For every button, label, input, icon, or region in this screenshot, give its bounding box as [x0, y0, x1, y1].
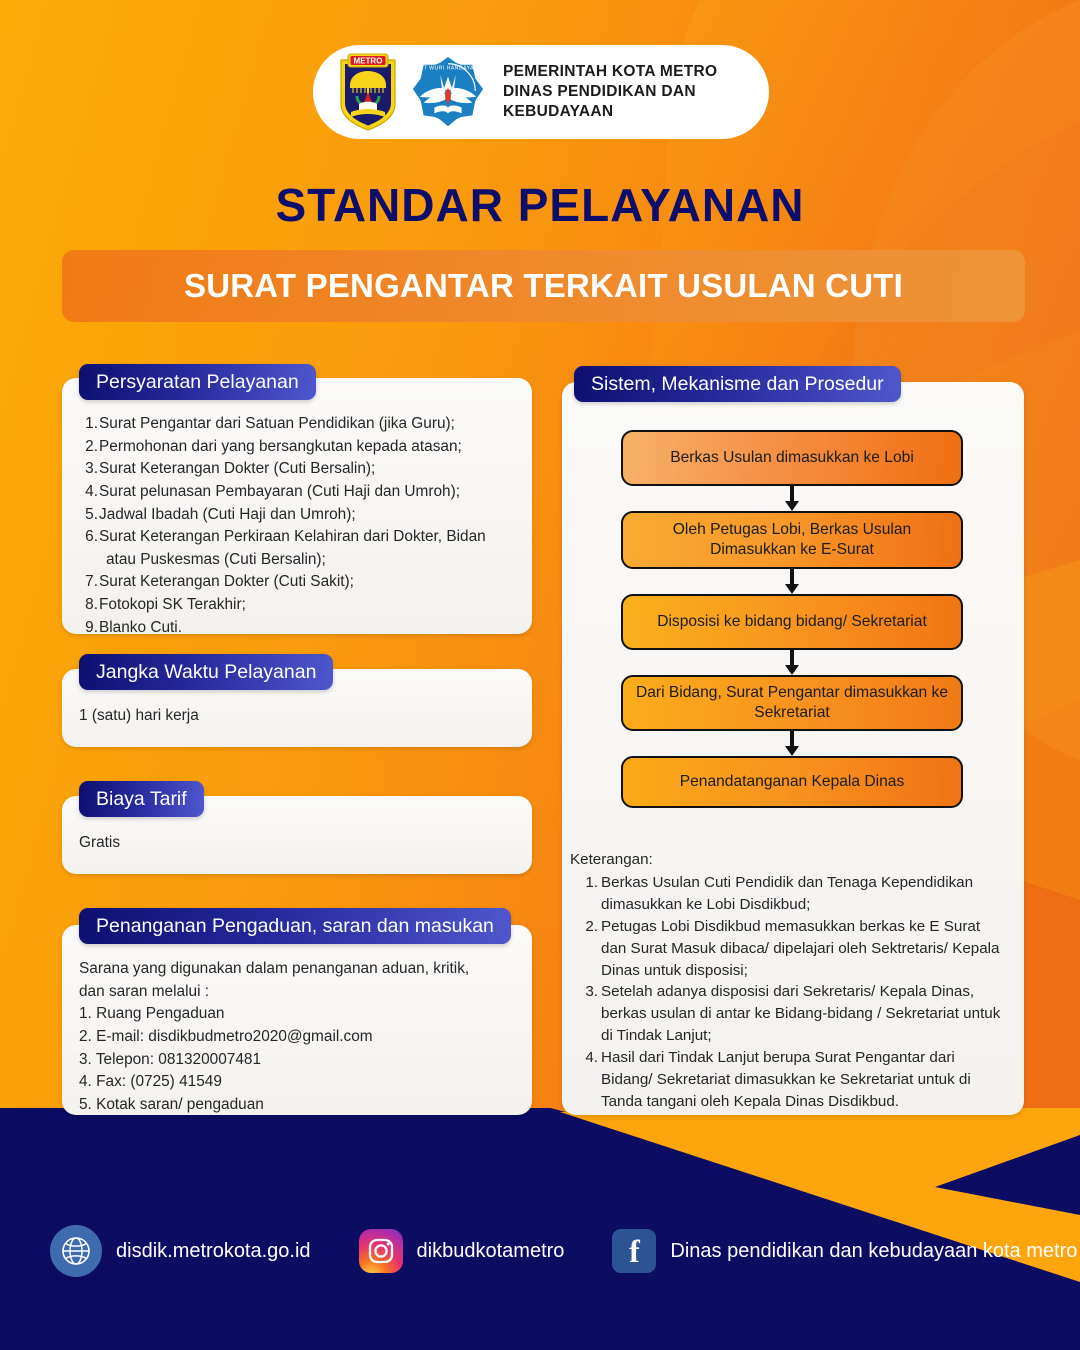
list-item: 1.Surat Pengantar dari Satuan Pendidikan… [80, 413, 532, 436]
website-label: disdik.metrokota.go.id [116, 1240, 311, 1263]
list-text: Jadwal Ibadah (Cuti Haji dan Umroh); [98, 504, 356, 527]
facebook-label: Dinas pendidikan dan kebudayaan kota met… [670, 1240, 1077, 1263]
list-item: 4.Surat pelunasan Pembayaran (Cuti Haji … [80, 481, 532, 504]
list-number: 4. [576, 1047, 598, 1113]
list-number: 7. [80, 571, 98, 594]
keterangan-list: 1.Berkas Usulan Cuti Pendidik dan Tenaga… [576, 872, 1004, 1113]
list-item: 8.Fotokopi SK Terakhir; [80, 594, 532, 617]
list-text: Hasil dari Tindak Lanjut berupa Surat Pe… [598, 1047, 1004, 1113]
pengaduan-body: Sarana yang digunakan dalam penanganan a… [79, 958, 529, 1116]
list-number: 5. [80, 504, 98, 527]
org-line-3: KEBUDAYAAN [503, 102, 717, 122]
list-text: Surat Pengantar dari Satuan Pendidikan (… [98, 413, 455, 436]
list-item: 4.Hasil dari Tindak Lanjut berupa Surat … [576, 1047, 1004, 1113]
list-item: 9.Blanko Cuti. [80, 617, 532, 640]
list-text: Berkas Usulan Cuti Pendidik dan Tenaga K… [598, 872, 1004, 916]
pengaduan-badge: Penanganan Pengaduan, saran dan masukan [79, 908, 511, 944]
subtitle-text: SURAT PENGANTAR TERKAIT USULAN CUTI [184, 267, 903, 305]
list-item: 3.Setelah adanya disposisi dari Sekretar… [576, 981, 1004, 1047]
jangka-waktu-badge: Jangka Waktu Pelayanan [79, 654, 333, 690]
list-text: Petugas Lobi Disdikbud memasukkan berkas… [598, 916, 1004, 982]
biaya-badge: Biaya Tarif [79, 781, 204, 817]
keterangan-title: Keterangan: [570, 851, 653, 868]
list-number: 9. [80, 617, 98, 640]
svg-text:METRO: METRO [354, 56, 383, 65]
persyaratan-list: 1.Surat Pengantar dari Satuan Pendidikan… [80, 413, 532, 639]
flow-step-2: Oleh Petugas Lobi, Berkas Usulan Dimasuk… [621, 511, 963, 569]
subtitle-banner: SURAT PENGANTAR TERKAIT USULAN CUTI [62, 250, 1025, 322]
list-item: 2.Petugas Lobi Disdikbud memasukkan berk… [576, 916, 1004, 982]
pengaduan-intro-1: Sarana yang digunakan dalam penanganan a… [79, 958, 529, 981]
pengaduan-item: 5. Kotak saran/ pengaduan [79, 1094, 529, 1117]
flow-step-3: Disposisi ke bidang bidang/ Sekretariat [621, 594, 963, 650]
flow-arrow-down-icon [621, 569, 963, 594]
org-line-2: DINAS PENDIDIKAN DAN [503, 82, 717, 102]
globe-icon [50, 1225, 102, 1277]
list-number: 8. [80, 594, 98, 617]
list-item-continuation: atau Puskesmas (Cuti Bersalin); [80, 549, 532, 572]
list-text: Blanko Cuti. [98, 617, 182, 640]
list-text: Setelah adanya disposisi dari Sekretaris… [598, 981, 1004, 1047]
jangka-waktu-value: 1 (satu) hari kerja [79, 705, 199, 728]
persyaratan-badge: Persyaratan Pelayanan [79, 364, 316, 400]
pengaduan-item: 1. Ruang Pengaduan [79, 1003, 529, 1026]
list-number: 2. [80, 436, 98, 459]
list-item: 1.Berkas Usulan Cuti Pendidik dan Tenaga… [576, 872, 1004, 916]
pengaduan-item: 4. Fax: (0725) 41549 [79, 1071, 529, 1094]
pengaduan-item: 3. Telepon: 081320007481 [79, 1049, 529, 1072]
pengaduan-intro-2: dan saran melalui : [79, 981, 529, 1004]
org-line-1: PEMERINTAH KOTA METRO [503, 62, 717, 82]
prosedur-badge: Sistem, Mekanisme dan Prosedur [574, 366, 901, 402]
footer-facebook[interactable]: f Dinas pendidikan dan kebudayaan kota m… [612, 1229, 1077, 1273]
flow-step-1: Berkas Usulan dimasukkan ke Lobi [621, 430, 963, 486]
list-text: Surat Keterangan Dokter (Cuti Sakit); [98, 571, 354, 594]
list-text: Surat Keterangan Perkiraan Kelahiran dar… [98, 526, 486, 549]
list-text: Permohonan dari yang bersangkutan kepada… [98, 436, 462, 459]
flow-arrow-down-icon [621, 486, 963, 511]
instagram-icon [359, 1229, 403, 1273]
list-item: 6.Surat Keterangan Perkiraan Kelahiran d… [80, 526, 532, 549]
list-number: 3. [80, 458, 98, 481]
footer-instagram[interactable]: dikbudkotametro [359, 1229, 565, 1273]
tut-wuri-handayani-icon: TUT WURI HANDAYANI [411, 54, 485, 130]
svg-text:TUT WURI HANDAYANI: TUT WURI HANDAYANI [416, 66, 480, 72]
flow-arrow-down-icon [621, 650, 963, 675]
list-item: 7.Surat Keterangan Dokter (Cuti Sakit); [80, 571, 532, 594]
flow-step-5: Penandatanganan Kepala Dinas [621, 756, 963, 808]
list-item: 2.Permohonan dari yang bersangkutan kepa… [80, 436, 532, 459]
list-item: 5.Jadwal Ibadah (Cuti Haji dan Umroh); [80, 504, 532, 527]
list-number: 6. [80, 526, 98, 549]
footer-contacts: disdik.metrokota.go.id dikbudkotametro f… [50, 1225, 1077, 1277]
list-text: Surat pelunasan Pembayaran (Cuti Haji da… [98, 481, 460, 504]
header-logo-pill: METRO TUT WURI HANDAYANI PEMERIN [313, 45, 769, 139]
instagram-label: dikbudkotametro [417, 1240, 565, 1263]
footer-website[interactable]: disdik.metrokota.go.id [50, 1225, 311, 1277]
list-text: Fotokopi SK Terakhir; [98, 594, 246, 617]
procedure-flowchart: Berkas Usulan dimasukkan ke Lobi Oleh Pe… [621, 430, 963, 808]
list-item: 3.Surat Keterangan Dokter (Cuti Bersalin… [80, 458, 532, 481]
page-title: STANDAR PELAYANAN [0, 178, 1080, 232]
org-name: PEMERINTAH KOTA METRO DINAS PENDIDIKAN D… [503, 62, 717, 121]
list-number: 3. [576, 981, 598, 1047]
flow-arrow-down-icon [621, 731, 963, 756]
list-number: 4. [80, 481, 98, 504]
facebook-icon: f [612, 1229, 656, 1273]
biaya-value: Gratis [79, 832, 120, 855]
list-text: Surat Keterangan Dokter (Cuti Bersalin); [98, 458, 375, 481]
metro-crest-icon: METRO [337, 52, 399, 132]
flow-step-4: Dari Bidang, Surat Pengantar dimasukkan … [621, 675, 963, 731]
list-number: 2. [576, 916, 598, 982]
pengaduan-item: 2. E-mail: disdikbudmetro2020@gmail.com [79, 1026, 529, 1049]
list-number: 1. [80, 413, 98, 436]
list-number: 1. [576, 872, 598, 916]
